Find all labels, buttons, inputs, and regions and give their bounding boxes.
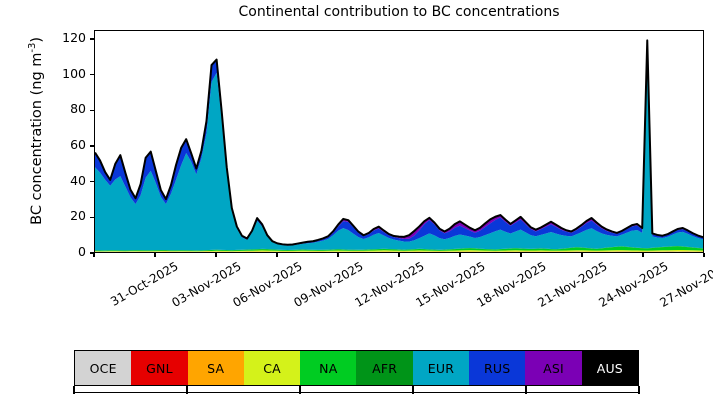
legend-divider <box>525 386 526 394</box>
legend-item-afr[interactable]: AFR <box>356 351 412 385</box>
legend-item-aus[interactable]: AUS <box>582 351 638 385</box>
y-tick-label: 100 <box>40 68 86 80</box>
legend-divider <box>299 386 300 394</box>
figure: Continental contribution to BC concentra… <box>0 0 713 402</box>
y-tick-label: 60 <box>40 139 86 151</box>
y-tick-label: 40 <box>40 175 86 187</box>
legend-divider <box>638 386 639 394</box>
legend: OCEGNLSACANAAFREURRUSASIAUS <box>74 350 639 386</box>
x-tick-mark <box>276 253 277 257</box>
legend-item-oce[interactable]: OCE <box>75 351 131 385</box>
x-tick-mark <box>520 253 521 257</box>
plot-area[interactable] <box>94 30 704 253</box>
legend-item-sa[interactable]: SA <box>188 351 244 385</box>
legend-item-asi[interactable]: ASI <box>525 351 581 385</box>
x-tick-mark <box>154 253 155 257</box>
x-tick-mark <box>398 253 399 257</box>
legend-item-rus[interactable]: RUS <box>469 351 525 385</box>
legend-divider <box>186 386 187 394</box>
legend-item-na[interactable]: NA <box>300 351 356 385</box>
legend-item-eur[interactable]: EUR <box>413 351 469 385</box>
legend-divider <box>412 386 413 394</box>
x-tick-mark <box>642 253 643 257</box>
y-tick-label: 120 <box>40 32 86 44</box>
x-tick-mark <box>581 253 582 257</box>
y-tick-label: 80 <box>40 103 86 115</box>
chart-title: Continental contribution to BC concentra… <box>94 3 704 21</box>
legend-item-gnl[interactable]: GNL <box>131 351 187 385</box>
y-tick-label: 20 <box>40 210 86 222</box>
legend-baseline <box>74 392 639 393</box>
y-tick-label: 0 <box>40 246 86 258</box>
legend-item-ca[interactable]: CA <box>244 351 300 385</box>
x-tick-mark <box>337 253 338 257</box>
x-tick-label: 31-Oct-2025 <box>108 259 180 309</box>
x-tick-mark <box>459 253 460 257</box>
legend-divider <box>73 386 74 394</box>
x-tick-mark <box>703 253 704 257</box>
x-tick-mark <box>215 253 216 257</box>
x-tick-mark <box>93 253 94 257</box>
y-axis-label-exponent: -3 <box>27 43 38 53</box>
stacked-area-chart <box>95 31 703 252</box>
